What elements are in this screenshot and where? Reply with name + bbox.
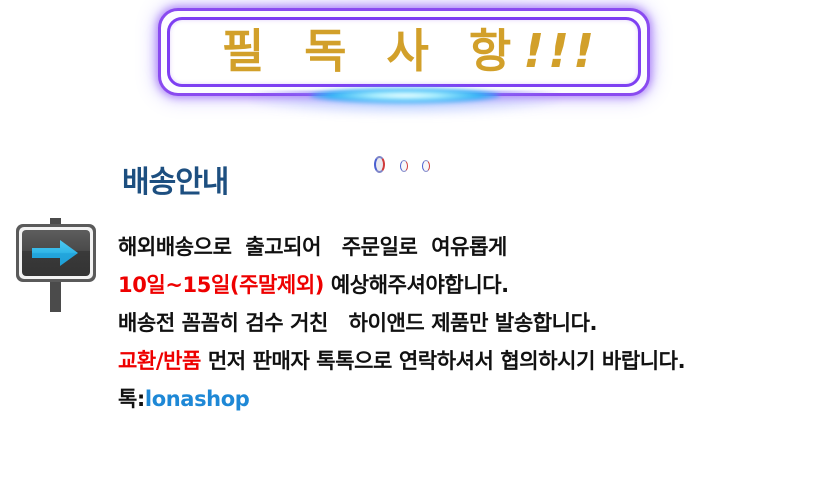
- bubble-dots-indicator: [374, 155, 444, 177]
- banner-exclamation: !!!: [523, 24, 598, 78]
- notice-line-2: 10일~15일(주말제외) 예상해주셔야합니다.: [118, 266, 808, 304]
- notice-banner: 필 독 사 항!!!: [158, 8, 650, 96]
- notice-line-5-segment-1: 톡:: [118, 387, 145, 411]
- notice-line-3-segment-1: 배송전 꼼꼼히 검수 거친 하이앤드 제품만 발송합니다.: [118, 311, 597, 335]
- banner-title-text: 필 독 사 항: [222, 24, 523, 78]
- notice-line-3: 배송전 꼼꼼히 검수 거친 하이앤드 제품만 발송합니다.: [118, 304, 808, 342]
- notice-line-5: 톡:lonashop: [118, 380, 808, 418]
- notice-line-4-segment-2: 먼저 판매자 톡톡으로 연락하셔서 협의하시기 바랍니다.: [201, 349, 685, 373]
- notice-line-1-segment-1: 해외배송으로 출고되어 주문일로 여유롭게: [118, 235, 507, 259]
- page-title: 배송안내: [122, 168, 228, 198]
- notice-line-4: 교환/반품 먼저 판매자 톡톡으로 연락하셔서 협의하시기 바랍니다.: [118, 342, 808, 380]
- bubble-dot-2: [400, 160, 408, 172]
- bubble-dot-1: [374, 156, 385, 173]
- delivery-notice-body: 해외배송으로 출고되어 주문일로 여유롭게 10일~15일(주말제외) 예상해주…: [118, 228, 808, 418]
- notice-line-2-segment-2: 예상해주셔야합니다.: [324, 273, 509, 297]
- notice-line-4-segment-1: 교환/반품: [118, 349, 201, 373]
- road-sign-right-arrow-icon: [12, 216, 106, 320]
- banner-title: 필 독 사 항!!!: [158, 28, 650, 74]
- notice-line-1: 해외배송으로 출고되어 주문일로 여유롭게: [118, 228, 808, 266]
- notice-line-2-segment-1: 10일~15일(주말제외): [118, 273, 324, 297]
- bubble-dot-3: [422, 160, 430, 172]
- notice-line-5-segment-2: lonashop: [145, 387, 249, 411]
